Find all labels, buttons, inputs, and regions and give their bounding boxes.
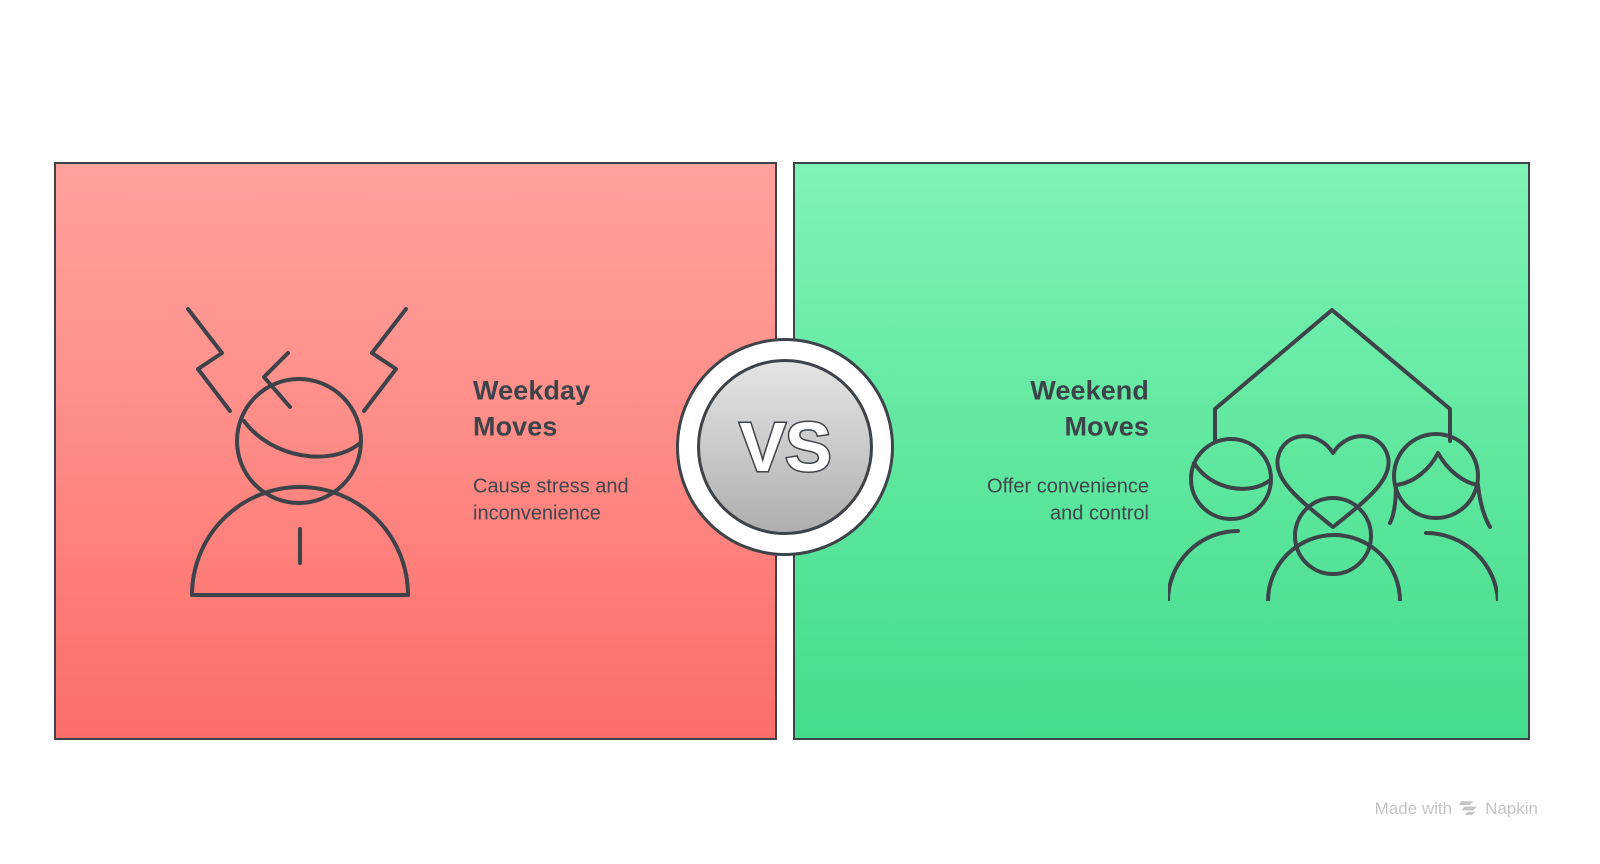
panel-left-title: Weekday Moves <box>473 374 653 446</box>
vs-badge: VS <box>670 332 900 562</box>
diagram-canvas: Weekday Moves Cause stress and inconveni… <box>0 0 1600 864</box>
watermark-brand: Napkin <box>1485 800 1538 817</box>
watermark: Made with Napkin <box>1375 799 1538 818</box>
panel-right-title: Weekend Moves <box>969 374 1149 446</box>
watermark-text: Made with <box>1375 800 1452 817</box>
comparison-panel-right[interactable]: Weekend Moves Offer convenience and cont… <box>793 162 1530 740</box>
panel-left-subtitle: Cause stress and inconvenience <box>473 473 668 528</box>
stressed-person-icon <box>168 291 428 611</box>
family-home-icon <box>1168 301 1498 601</box>
comparison-panel-left[interactable]: Weekday Moves Cause stress and inconveni… <box>54 162 777 740</box>
vs-badge-inner: VS <box>697 359 873 535</box>
panel-right-subtitle: Offer convenience and control <box>954 473 1149 528</box>
vs-label: VS <box>739 412 830 482</box>
napkin-logo-icon <box>1459 799 1478 818</box>
